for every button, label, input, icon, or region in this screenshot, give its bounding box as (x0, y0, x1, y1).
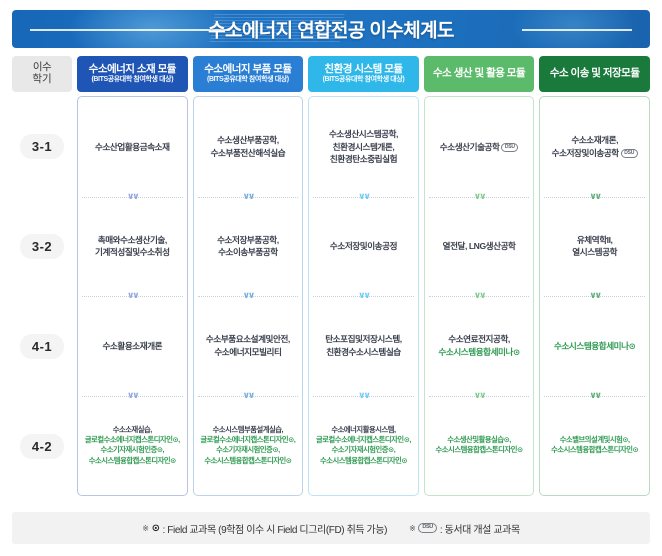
course-list: 열전달, LNG생산공학 (443, 240, 516, 252)
module-title: 수소 이송 및 저장모듈 (550, 68, 640, 80)
course-cell[interactable]: 수소생산및활용실습⊙,수소시스템융합캡스톤디자인⊙ (425, 396, 534, 496)
page-title: 수소에너지 연합전공 이수체계도 (12, 16, 650, 43)
course-name: 열시스템공학 (572, 246, 617, 258)
course-name: 수소시스템융합세미나⊙ (438, 346, 519, 358)
module-column-materials: 수소에너지 소재 모듈(BITS공유대학 참여학생 대상)수소산업활용금속소재∨… (77, 56, 188, 496)
module-header-materials[interactable]: 수소에너지 소재 모듈(BITS공유대학 참여학생 대상) (77, 56, 188, 92)
course-cell[interactable]: 수소시스템융합세미나⊙ (540, 296, 649, 396)
course-name: 수소시스템융합캡스톤디자인⊙ (200, 456, 295, 466)
course-cell[interactable]: 수소시스템부품설계실습,글로컬수소에너지캡스톤디자인⊙,수소기자재시험인증⊙,수… (194, 396, 303, 496)
course-list: 수소생산부품공학,수소부품전산해석실습 (211, 134, 286, 159)
course-cell[interactable]: 수소저장및이송공정 (309, 197, 418, 297)
semester-pill: 4-2 (20, 434, 64, 459)
module-body-transport-storage: 수소소재개론,수소저장및이송공학 DSU∨∨유체역학II,열시스템공학∨∨수소시… (539, 96, 650, 496)
course-cell[interactable]: 탄소포집및저장시스템,친환경수소시스템실습 (309, 296, 418, 396)
course-list: 유체역학II,열시스템공학 (572, 234, 617, 259)
semester-pill: 3-2 (20, 234, 64, 259)
course-name: 수소기자재시험인증⊙, (200, 445, 295, 455)
module-body-production-use: 수소생산기술공학 DSU∨∨열전달, LNG생산공학∨∨수소연료전지공학,수소시… (424, 96, 535, 496)
course-name: 친환경수소시스템실습 (325, 346, 402, 358)
course-list: 수소연료전지공학,수소시스템융합세미나⊙ (438, 333, 519, 358)
course-name: 수소부품요소설계및안전, (206, 333, 290, 345)
course-list: 수소시스템부품설계실습,글로컬수소에너지캡스톤디자인⊙,수소기자재시험인증⊙,수… (200, 425, 295, 466)
legend-field-course: ※ ⊙ : Field 교과목 (9학점 이수 시 Field 디그리(FD) … (142, 521, 387, 536)
course-name: 촉매와수소생산기술, (95, 234, 170, 246)
course-name: 수소부품전산해석실습 (211, 147, 286, 159)
course-name: 수소생산기술공학 DSU (440, 141, 519, 153)
course-cell[interactable]: 유체역학II,열시스템공학 (540, 197, 649, 297)
legend-dsu-text: : 동서대 개설 교과목 (440, 521, 520, 536)
module-title: 친환경 시스템 모듈 (324, 64, 402, 76)
course-list: 촉매와수소생산기술,기계적성질및수소취성 (95, 234, 170, 259)
course-list: 수소부품요소설계및안전,수소에너지모빌리티 (206, 333, 290, 358)
course-name: 수소시스템융합캡스톤디자인⊙ (85, 456, 180, 466)
course-name: 수소저장부품공학, (217, 234, 279, 246)
course-name: 글로컬수소에너지캡스톤디자인⊙, (200, 435, 295, 445)
course-name: 수소산업활용금속소재 (95, 141, 170, 153)
semester-list: 3-1 3-2 4-1 4-2 (12, 96, 72, 496)
semester-pill: 3-1 (20, 134, 64, 159)
module-column-parts: 수소에너지 부품 모듈(BITS공유대학 참여학생 대상)수소생산부품공학,수소… (193, 56, 304, 496)
course-name: 수소소재개론, (552, 134, 638, 146)
curriculum-diagram: 수소에너지 연합전공 이수체계도 이수 학기 3-1 3-2 4-1 4-2 (0, 0, 662, 556)
course-cell[interactable]: 수소저장부품공학,수소이송부품공학 (194, 197, 303, 297)
course-list: 수소소재실습,글로컬수소에너지캡스톤디자인⊙,수소기자재시험인증⊙,수소시스템융… (85, 425, 180, 466)
course-name: 수소시스템융합캡스톤디자인⊙ (316, 456, 411, 466)
course-name: 탄소포집및저장시스템, (325, 333, 402, 345)
course-list: 수소산업활용금속소재 (95, 141, 170, 153)
legend-star-icon: ※ (409, 524, 415, 533)
legend-star-icon: ※ (142, 524, 148, 533)
module-subtitle: (BITS공유대학 참여학생 대상) (91, 76, 173, 84)
course-cell[interactable]: 수소생산시스템공학,친환경시스템개론,친환경탄소중립실험 (309, 97, 418, 197)
module-header-transport-storage[interactable]: 수소 이송 및 저장모듈 (539, 56, 650, 92)
module-title: 수소에너지 부품 모듈 (204, 64, 291, 76)
module-title: 수소 생산 및 활용 모듈 (433, 68, 525, 80)
course-cell[interactable]: 열전달, LNG생산공학 (425, 197, 534, 297)
semester-cell: 3-2 (12, 196, 72, 296)
legend-dsu-course: ※ DSU : 동서대 개설 교과목 (409, 521, 520, 536)
field-degree-icon: ⊙ (152, 523, 160, 534)
module-column-production-use: 수소 생산 및 활용 모듈수소생산기술공학 DSU∨∨열전달, LNG생산공학∨… (424, 56, 535, 496)
curriculum-grid: 이수 학기 3-1 3-2 4-1 4-2 수소에너지 소재 모듈(BITS공유… (12, 56, 650, 496)
course-cell[interactable]: 수소생산기술공학 DSU (425, 97, 534, 197)
semester-cell: 4-2 (12, 396, 72, 496)
course-cell[interactable]: 수소소재개론,수소저장및이송공학 DSU (540, 97, 649, 197)
course-name: 수소이송부품공학 (217, 246, 279, 258)
course-name: 수소생산시스템공학, (329, 128, 398, 140)
course-cell[interactable]: 수소생산부품공학,수소부품전산해석실습 (194, 97, 303, 197)
course-list: 수소소재개론,수소저장및이송공학 DSU (552, 134, 638, 159)
course-name: 기계적성질및수소취성 (95, 246, 170, 258)
module-column-transport-storage: 수소 이송 및 저장모듈수소소재개론,수소저장및이송공학 DSU∨∨유체역학II… (539, 56, 650, 496)
course-name: 수소기자재시험인증⊙, (316, 445, 411, 455)
dsu-badge-icon: DSU (501, 143, 518, 153)
course-cell[interactable]: 수소산업활용금속소재 (78, 97, 187, 197)
dsu-badge-icon: DSU (621, 149, 638, 159)
legend-field-text: : Field 교과목 (9학점 이수 시 Field 디그리(FD) 취득 가… (163, 521, 388, 536)
course-name: 수소시스템융합캡스톤디자인⊙ (551, 445, 638, 455)
course-cell[interactable]: 수소소재실습,글로컬수소에너지캡스톤디자인⊙,수소기자재시험인증⊙,수소시스템융… (78, 396, 187, 496)
course-name: 수소시스템부품설계실습, (200, 425, 295, 435)
module-header-eco-system[interactable]: 친환경 시스템 모듈(BITS공유대학 참여학생 대상) (308, 56, 419, 92)
course-list: 탄소포집및저장시스템,친환경수소시스템실습 (325, 333, 402, 358)
course-name: 수소생산및활용실습⊙, (436, 435, 523, 445)
module-subtitle: (BITS공유대학 참여학생 대상) (207, 76, 289, 84)
semester-pill: 4-1 (20, 334, 64, 359)
course-list: 수소밸브의설계및시험⊙,수소시스템융합캡스톤디자인⊙ (551, 435, 638, 456)
course-list: 수소저장및이송공정 (330, 240, 397, 252)
semester-column: 이수 학기 3-1 3-2 4-1 4-2 (12, 56, 72, 496)
course-name: 수소시스템융합세미나⊙ (554, 340, 635, 352)
module-body-materials: 수소산업활용금속소재∨∨촉매와수소생산기술,기계적성질및수소취성∨∨수소활용소재… (77, 96, 188, 496)
module-subtitle: (BITS공유대학 참여학생 대상) (323, 76, 405, 84)
course-name: 수소시스템융합캡스톤디자인⊙ (436, 445, 523, 455)
module-body-parts: 수소생산부품공학,수소부품전산해석실습∨∨수소저장부품공학,수소이송부품공학∨∨… (193, 96, 304, 496)
semester-header-line2: 학기 (32, 74, 51, 86)
course-name: 수소저장및이송공정 (330, 240, 397, 252)
course-cell[interactable]: 수소에너지활용시스템,글로컬수소에너지캡스톤디자인⊙,수소기자재시험인증⊙,수소… (309, 396, 418, 496)
semester-column-header: 이수 학기 (12, 56, 72, 92)
course-name: 수소소재실습, (85, 425, 180, 435)
module-header-parts[interactable]: 수소에너지 부품 모듈(BITS공유대학 참여학생 대상) (193, 56, 304, 92)
course-cell[interactable]: 수소밸브의설계및시험⊙,수소시스템융합캡스톤디자인⊙ (540, 396, 649, 496)
title-banner: 수소에너지 연합전공 이수체계도 (12, 10, 650, 48)
course-name: 수소밸브의설계및시험⊙, (551, 435, 638, 445)
course-cell[interactable]: 수소활용소재개론 (78, 296, 187, 396)
course-name: 수소기자재시험인증⊙, (85, 445, 180, 455)
module-body-eco-system: 수소생산시스템공학,친환경시스템개론,친환경탄소중립실험∨∨수소저장및이송공정∨… (308, 96, 419, 496)
course-cell[interactable]: 촉매와수소생산기술,기계적성질및수소취성 (78, 197, 187, 297)
legend-bar: ※ ⊙ : Field 교과목 (9학점 이수 시 Field 디그리(FD) … (12, 512, 650, 544)
course-name: 수소활용소재개론 (102, 340, 162, 352)
course-name: 수소연료전지공학, (438, 333, 519, 345)
course-name: 글로컬수소에너지캡스톤디자인⊙, (85, 435, 180, 445)
course-list: 수소생산기술공학 DSU (440, 141, 519, 153)
course-list: 수소활용소재개론 (102, 340, 162, 352)
module-title: 수소에너지 소재 모듈 (89, 64, 176, 76)
course-list: 수소생산시스템공학,친환경시스템개론,친환경탄소중립실험 (329, 128, 398, 165)
course-name: 친환경탄소중립실험 (329, 153, 398, 165)
course-list: 수소시스템융합세미나⊙ (554, 340, 635, 352)
module-column-eco-system: 친환경 시스템 모듈(BITS공유대학 참여학생 대상)수소생산시스템공학,친환… (308, 56, 419, 496)
course-list: 수소저장부품공학,수소이송부품공학 (217, 234, 279, 259)
semester-cell: 4-1 (12, 296, 72, 396)
course-name: 유체역학II, (572, 234, 617, 246)
course-name: 수소에너지모빌리티 (206, 346, 290, 358)
course-name: 수소저장및이송공학 DSU (552, 147, 638, 159)
course-cell[interactable]: 수소부품요소설계및안전,수소에너지모빌리티 (194, 296, 303, 396)
course-name: 친환경시스템개론, (329, 141, 398, 153)
course-cell[interactable]: 수소연료전지공학,수소시스템융합세미나⊙ (425, 296, 534, 396)
dsu-badge-icon: DSU (418, 523, 436, 533)
course-list: 수소생산및활용실습⊙,수소시스템융합캡스톤디자인⊙ (436, 435, 523, 456)
course-name: 열전달, LNG생산공학 (443, 240, 516, 252)
course-name: 수소에너지활용시스템, (316, 425, 411, 435)
course-list: 수소에너지활용시스템,글로컬수소에너지캡스톤디자인⊙,수소기자재시험인증⊙,수소… (316, 425, 411, 466)
course-name: 수소생산부품공학, (211, 134, 286, 146)
module-header-production-use[interactable]: 수소 생산 및 활용 모듈 (424, 56, 535, 92)
course-name: 글로컬수소에너지캡스톤디자인⊙, (316, 435, 411, 445)
semester-cell: 3-1 (12, 96, 72, 196)
